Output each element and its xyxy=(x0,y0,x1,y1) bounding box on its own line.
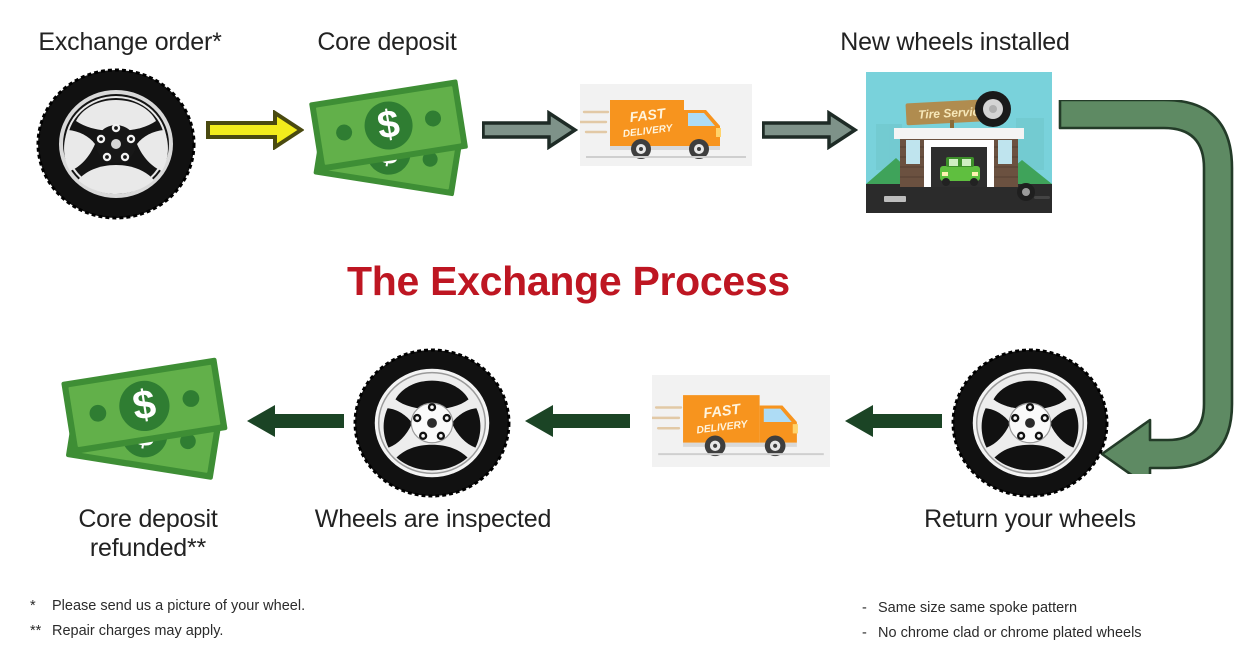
delivery-truck-icon-return: FAST DELIVERY xyxy=(652,375,830,467)
footnote-text: Repair charges may apply. xyxy=(52,619,223,644)
requirement-item: - No chrome clad or chrome plated wheels xyxy=(862,621,1242,646)
arrow-deposit-to-shipping xyxy=(482,110,578,150)
delivery-truck-icon: FAST DELIVERY xyxy=(580,84,752,166)
footnotes-right: - Same size same spoke pattern - No chro… xyxy=(862,596,1242,647)
tire-service-shop-icon: Tire Service xyxy=(866,72,1052,213)
arrow-shipping-to-inspection xyxy=(523,403,631,439)
page-title: The Exchange Process xyxy=(347,258,790,305)
cash-icon-refund: $ $ xyxy=(58,352,238,486)
requirement-text: Same size same spoke pattern xyxy=(878,596,1077,621)
wheel-icon xyxy=(36,68,196,220)
footnote-item: * Please send us a picture of your wheel… xyxy=(30,594,430,619)
requirement-item: - Same size same spoke pattern xyxy=(862,596,1242,621)
footnote-text: Please send us a picture of your wheel. xyxy=(52,594,305,619)
arrow-shipping-to-install xyxy=(762,110,858,150)
arrow-inspection-to-refund xyxy=(245,403,345,439)
wheel-icon-inspected xyxy=(353,348,511,498)
label-core-deposit: Core deposit xyxy=(272,28,502,57)
label-wheels-inspected: Wheels are inspected xyxy=(300,505,566,534)
label-return-your-wheels: Return your wheels xyxy=(900,505,1160,534)
footnote-item: ** Repair charges may apply. xyxy=(30,619,430,644)
requirement-mark: - xyxy=(862,596,878,621)
exchange-process-diagram: Exchange order* Core deposit New wheels … xyxy=(0,0,1250,666)
label-new-wheels-installed: New wheels installed xyxy=(810,28,1100,57)
footnotes-left: * Please send us a picture of your wheel… xyxy=(30,594,430,645)
cash-icon: $ $ xyxy=(306,74,478,202)
label-core-deposit-refunded: Core deposit refunded** xyxy=(24,505,272,563)
footnote-mark: * xyxy=(30,594,52,619)
arrow-return-to-shipping xyxy=(843,403,943,439)
label-exchange-order: Exchange order* xyxy=(0,28,260,57)
requirement-text: No chrome clad or chrome plated wheels xyxy=(878,621,1142,646)
wheel-icon-return xyxy=(951,348,1109,498)
arrow-order-to-deposit xyxy=(206,110,304,150)
footnote-mark: ** xyxy=(30,619,52,644)
requirement-mark: - xyxy=(862,621,878,646)
sign-tire xyxy=(975,91,1011,127)
